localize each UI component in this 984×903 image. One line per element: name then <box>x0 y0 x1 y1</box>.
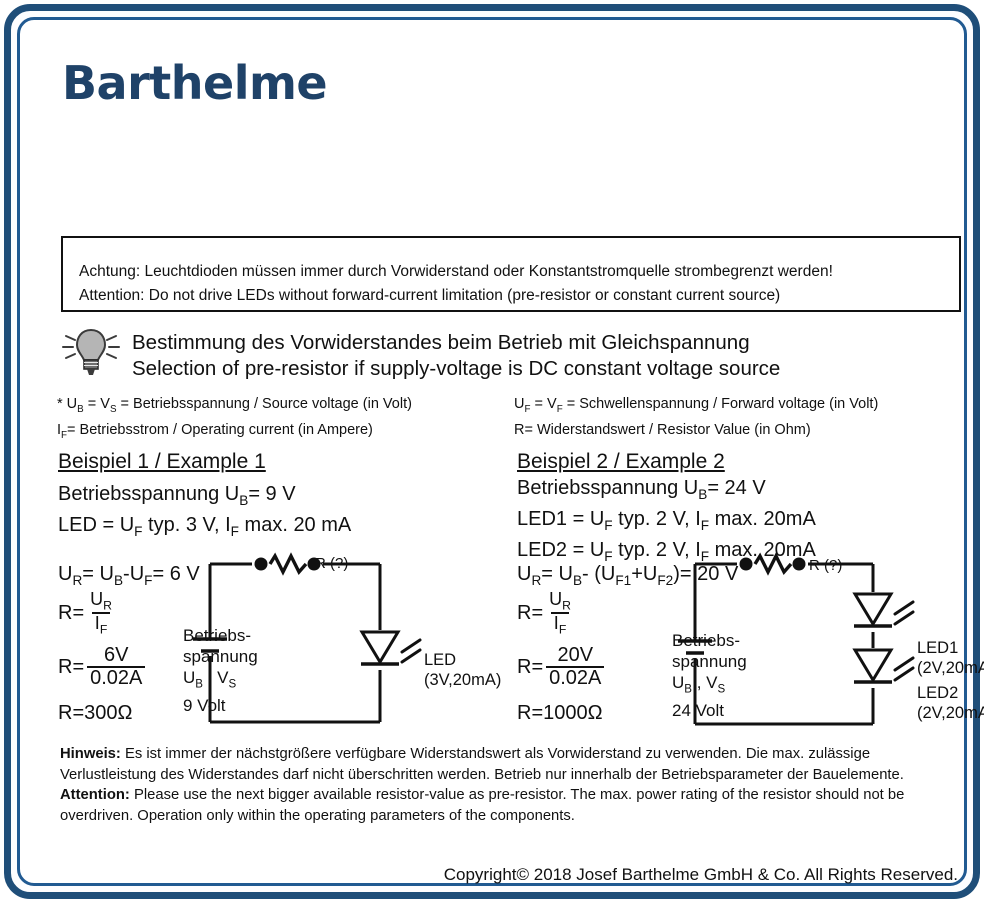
junction-dot-right <box>308 558 321 571</box>
bulb-base <box>84 360 98 369</box>
definition-ub: * UB = VS = Betriebsspannung / Source vo… <box>57 394 412 420</box>
example1-title: Beispiel 1 / Example 1 <box>58 450 266 474</box>
headline-block: Bestimmung des Vorwiderstandes beim Betr… <box>132 330 780 382</box>
definitions-left: * UB = VS = Betriebsspannung / Source vo… <box>57 394 412 446</box>
junction-dot-right <box>793 558 806 571</box>
example1-ur-equation: UR= UB-UF= 6 V <box>58 563 200 588</box>
note-german-text: Es ist immer der nächstgrößere verfügbar… <box>60 746 904 783</box>
footer-note: Hinweis: Es ist immer der nächstgrößere … <box>60 744 940 826</box>
example2-spec-led1: LED1 = UF typ. 2 V, IF max. 20mA <box>517 507 816 538</box>
example2-formula-symbolic: R= UR IF <box>517 590 574 637</box>
example2-circuit-diagram <box>665 552 984 737</box>
example2-fraction-numeric: 20V 0.02A <box>546 645 604 689</box>
warning-text-german: Achtung: Leuchtdioden müssen immer durch… <box>79 264 833 280</box>
example2-title: Beispiel 2 / Example 2 <box>517 450 725 474</box>
definition-uf: UF = VF = Schwellenspannung / Forward vo… <box>514 394 878 420</box>
bulb-tip <box>87 369 95 375</box>
copyright-line: Copyright© 2018 Josef Barthelme GmbH & C… <box>20 865 970 885</box>
example2-result: R=1000Ω <box>517 702 603 725</box>
document-page: Barthelme Achtung: Leuchtdioden müssen i… <box>0 0 984 903</box>
definitions-right: UF = VF = Schwellenspannung / Forward vo… <box>514 394 878 441</box>
bulb-glass <box>77 330 105 360</box>
battery-symbol <box>678 641 712 653</box>
example2-fraction-symbolic-num: UR <box>546 590 574 612</box>
headline-english: Selection of pre-resistor if supply-volt… <box>132 356 780 382</box>
example1-formula-symbolic-lead: R= <box>58 602 84 625</box>
barthelme-logo: Barthelme <box>62 60 327 106</box>
inner-border: Barthelme Achtung: Leuchtdioden müssen i… <box>17 17 967 886</box>
definition-r: R= Widerstandswert / Resistor Value (in … <box>514 420 878 441</box>
example2-fraction-numeric-den: 0.02A <box>546 666 604 689</box>
example2-fraction-symbolic: UR IF <box>546 590 574 637</box>
warning-text-english: Attention: Do not drive LEDs without for… <box>79 288 780 304</box>
junction-dot-left <box>740 558 753 571</box>
example2-spec-supply: Betriebsspannung UB= 24 V <box>517 476 816 507</box>
headline-german: Bestimmung des Vorwiderstandes beim Betr… <box>132 330 780 356</box>
example1-spec-supply: Betriebsspannung UB= 9 V <box>58 482 351 513</box>
definition-if: IF= Betriebsstrom / Operating current (i… <box>57 420 412 446</box>
example2-fraction-numeric-num: 20V <box>554 645 596 666</box>
battery-symbol <box>193 639 227 651</box>
example1-fraction-symbolic-den: IF <box>92 612 111 636</box>
note-english: Attention: Please use the next bigger av… <box>60 785 940 826</box>
note-german: Hinweis: Es ist immer der nächstgrößere … <box>60 744 940 785</box>
example1-fraction-numeric-num: 6V <box>101 645 131 666</box>
led1-symbol <box>854 594 913 626</box>
note-english-text: Please use the next bigger available res… <box>60 787 904 824</box>
note-english-label: Attention: <box>60 787 130 803</box>
example1-fraction-numeric: 6V 0.02A <box>87 645 145 689</box>
led2-symbol <box>854 650 913 682</box>
example2-formula-numeric: R= 20V 0.02A <box>517 645 604 689</box>
example1-formula-numeric: R= 6V 0.02A <box>58 645 145 689</box>
led-symbol <box>361 632 420 664</box>
note-german-label: Hinweis: <box>60 746 121 762</box>
example1-formula-numeric-lead: R= <box>58 656 84 679</box>
example2-fraction-symbolic-den: IF <box>551 612 570 636</box>
warning-box: Achtung: Leuchtdioden müssen immer durch… <box>61 236 961 312</box>
example1-result: R=300Ω <box>58 702 132 725</box>
example2-formula-symbolic-lead: R= <box>517 602 543 625</box>
example1-spec-led: LED = UF typ. 3 V, IF max. 20 mA <box>58 513 351 544</box>
example1-circuit-diagram <box>180 552 500 734</box>
example1-specs: Betriebsspannung UB= 9 V LED = UF typ. 3… <box>58 482 351 544</box>
example1-fraction-numeric-den: 0.02A <box>87 666 145 689</box>
junction-dot-left <box>255 558 268 571</box>
example1-fraction-symbolic: UR IF <box>87 590 115 637</box>
lightbulb-icon <box>60 326 122 382</box>
example1-fraction-symbolic-num: UR <box>87 590 115 612</box>
example2-formula-numeric-lead: R= <box>517 656 543 679</box>
example1-formula-symbolic: R= UR IF <box>58 590 115 637</box>
